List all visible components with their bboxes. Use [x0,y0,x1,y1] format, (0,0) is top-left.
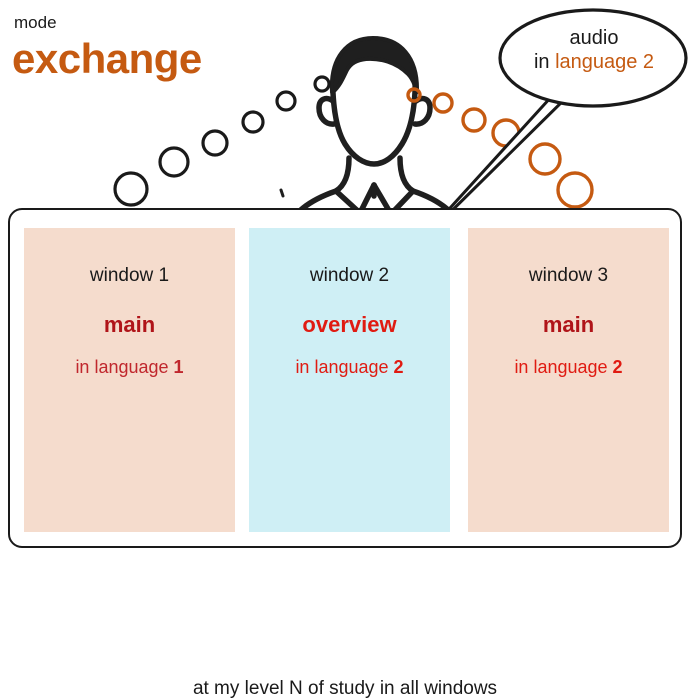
speech-bubble-line-1: audio [504,26,684,50]
mode-value: exchange [12,38,202,80]
window-1-language: in language 1 [24,358,235,376]
window-2-language-number: 2 [394,357,404,377]
speech-bubble-line-2-highlight: language 2 [555,51,654,73]
windows-panel: window 1 main in language 1 window 2 ove… [8,208,682,548]
window-3-language: in language 2 [468,358,669,376]
window-1-language-prefix: in language [75,357,173,377]
window-3-language-prefix: in language [514,357,612,377]
window-3-column[interactable]: window 3 main in language 2 [468,228,669,532]
window-1-title: window 1 [24,266,235,285]
speech-bubble-line-2: in language 2 [504,50,684,74]
thought-bubbles-left [115,77,329,205]
window-1-column[interactable]: window 1 main in language 1 [24,228,235,532]
window-2-title: window 2 [249,266,450,285]
window-2-language-prefix: in language [295,357,393,377]
panel-footnote: at my level N of study in all windows [10,678,680,700]
speech-bubble-line-2-prefix: in [534,51,555,73]
window-2-language: in language 2 [249,358,450,376]
diagram-canvas: mode exchange [0,0,694,564]
mode-label: mode [14,14,57,31]
window-3-kind: main [468,314,669,336]
window-3-language-number: 2 [613,357,623,377]
window-2-column[interactable]: window 2 overview in language 2 [249,228,450,532]
window-3-title: window 3 [468,266,669,285]
thought-bubbles-right [408,89,592,207]
window-2-kind: overview [249,314,450,336]
speech-bubble-text: audio in language 2 [504,26,684,75]
window-1-kind: main [24,314,235,336]
window-1-language-number: 1 [174,357,184,377]
